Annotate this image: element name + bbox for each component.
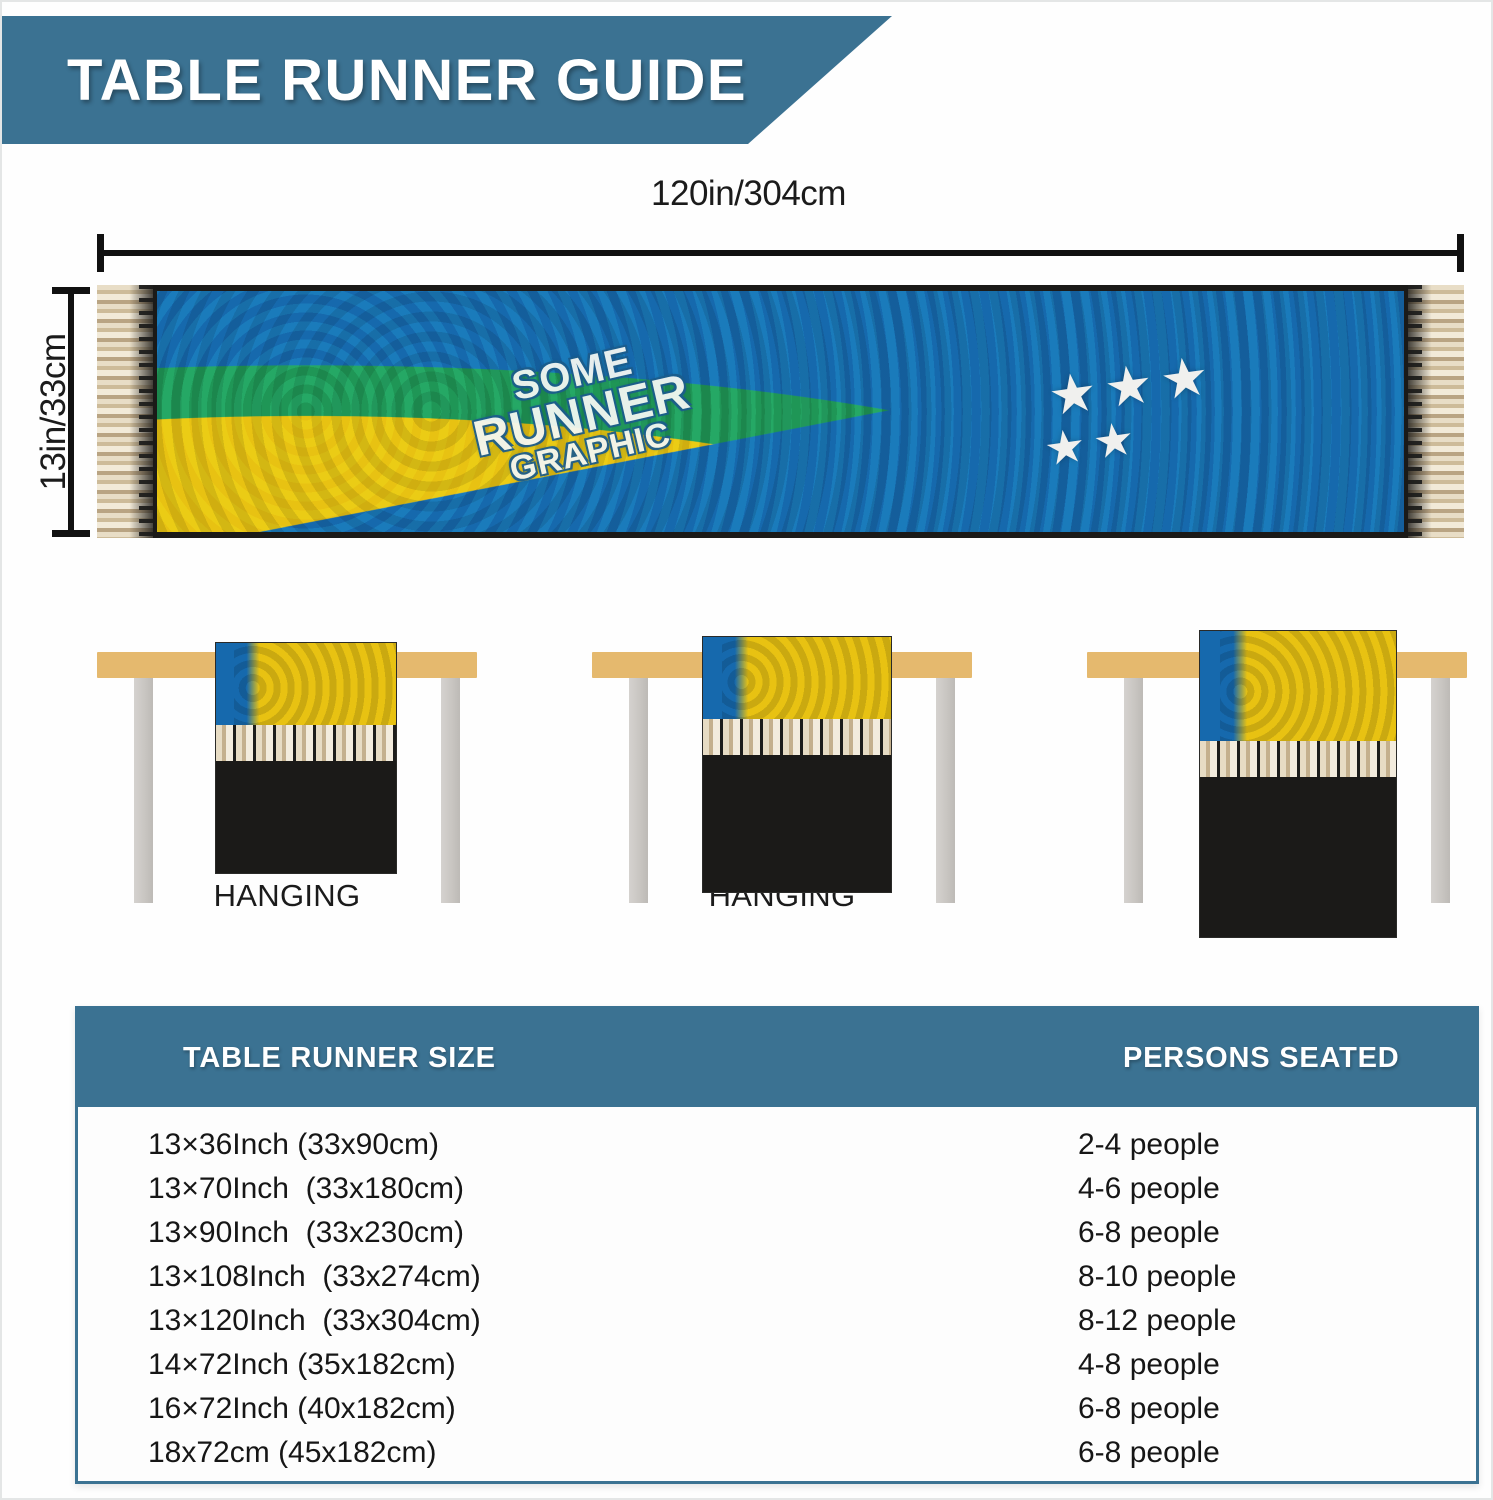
runner-drape-print: [216, 643, 396, 725]
table-leg-right-icon: [1431, 678, 1450, 903]
runner-frayed-edge-left: [97, 285, 153, 538]
cell-runner-size: 13×108Inch (33x274cm): [78, 1260, 1078, 1294]
cell-persons-seated: 6-8 people: [1078, 1436, 1408, 1470]
hanging-diagram-8-inch: 8 INCH HANGING: [97, 642, 497, 942]
cell-runner-size: 16×72Inch (40x182cm): [78, 1392, 1078, 1426]
cell-runner-size: 13×90Inch (33x230cm): [78, 1216, 1078, 1250]
height-cap-bottom-icon: [52, 530, 90, 537]
column-header-size: TABLE RUNNER SIZE: [183, 1042, 496, 1075]
runner-drape-frayed: [703, 719, 891, 755]
table-leg-left-icon: [1124, 678, 1143, 903]
runner-drape-border: [1200, 777, 1396, 937]
cell-runner-size: 13×120Inch (33x304cm): [78, 1304, 1078, 1338]
hanging-word-8: HANGING: [97, 878, 477, 915]
table-leg-left-icon: [629, 678, 648, 903]
page-title: TABLE RUNNER GUIDE: [67, 47, 747, 114]
width-cap-right-icon: [1457, 234, 1464, 272]
runner-print-art: SOME RUNNER GRAPHIC ★★★ ★★: [157, 291, 1404, 532]
table-row: 13×90Inch (33x230cm)6-8 people: [78, 1211, 1476, 1255]
size-chart-table: TABLE RUNNER SIZE PERSONS SEATED 13×36In…: [75, 1006, 1479, 1484]
runner-product-image: SOME RUNNER GRAPHIC ★★★ ★★: [97, 285, 1464, 538]
cell-persons-seated: 4-8 people: [1078, 1348, 1408, 1382]
cell-runner-size: 13×70Inch (33x180cm): [78, 1172, 1078, 1206]
size-chart-body: 13×36Inch (33x90cm)2-4 people13×70Inch (…: [78, 1107, 1476, 1475]
size-chart-header-row: TABLE RUNNER SIZE PERSONS SEATED: [78, 1009, 1476, 1107]
table-row: 16×72Inch (40x182cm)6-8 people: [78, 1387, 1476, 1431]
table-row: 18x72cm (45x182cm)6-8 people: [78, 1431, 1476, 1475]
runner-drape-print: [703, 637, 891, 719]
runner-art-text: SOME RUNNER GRAPHIC: [461, 331, 701, 492]
height-dimension-line: [52, 287, 90, 537]
table-row: 13×120Inch (33x304cm)8-12 people: [78, 1299, 1476, 1343]
draped-runner: [1199, 630, 1397, 938]
runner-drape-print: [1200, 631, 1396, 741]
runner-drape-border: [216, 761, 396, 873]
hanging-diagram-10-inch: 10 INCH HANGING: [592, 642, 992, 942]
cell-persons-seated: 2-4 people: [1078, 1128, 1408, 1162]
width-bar-icon: [97, 250, 1464, 256]
cell-persons-seated: 4-6 people: [1078, 1172, 1408, 1206]
cell-runner-size: 18x72cm (45x182cm): [78, 1436, 1078, 1470]
cell-persons-seated: 8-12 people: [1078, 1304, 1408, 1338]
cell-persons-seated: 8-10 people: [1078, 1260, 1408, 1294]
runner-drape-frayed: [216, 725, 396, 761]
height-bar-icon: [68, 287, 74, 537]
table-leg-right-icon: [441, 678, 460, 903]
cell-runner-size: 13×36Inch (33x90cm): [78, 1128, 1078, 1162]
runner-frayed-edge-right: [1408, 285, 1464, 538]
width-dimension-line: [97, 234, 1464, 272]
header-banner: TABLE RUNNER GUIDE: [0, 16, 892, 144]
cell-persons-seated: 6-8 people: [1078, 1392, 1408, 1426]
table-leg-left-icon: [134, 678, 153, 903]
runner-drape-frayed: [1200, 741, 1396, 777]
runner-drape-border: [703, 755, 891, 892]
table-runner-guide-infographic: TABLE RUNNER GUIDE 120in/304cm 13in/33cm…: [0, 0, 1493, 1500]
column-header-persons: PERSONS SEATED: [1123, 1042, 1400, 1075]
draped-runner: [215, 642, 397, 874]
table-row: 13×36Inch (33x90cm)2-4 people: [78, 1123, 1476, 1167]
table-row: 13×70Inch (33x180cm)4-6 people: [78, 1167, 1476, 1211]
cell-persons-seated: 6-8 people: [1078, 1216, 1408, 1250]
draped-runner: [702, 636, 892, 893]
cell-runner-size: 14×72Inch (35x182cm): [78, 1348, 1078, 1382]
table-leg-right-icon: [936, 678, 955, 903]
hanging-diagram-12-inch: 12 INCH HANGING: [1087, 642, 1487, 942]
runner-width-label: 120in/304cm: [2, 174, 1493, 214]
table-row: 13×108Inch (33x274cm)8-10 people: [78, 1255, 1476, 1299]
table-row: 14×72Inch (35x182cm)4-8 people: [78, 1343, 1476, 1387]
